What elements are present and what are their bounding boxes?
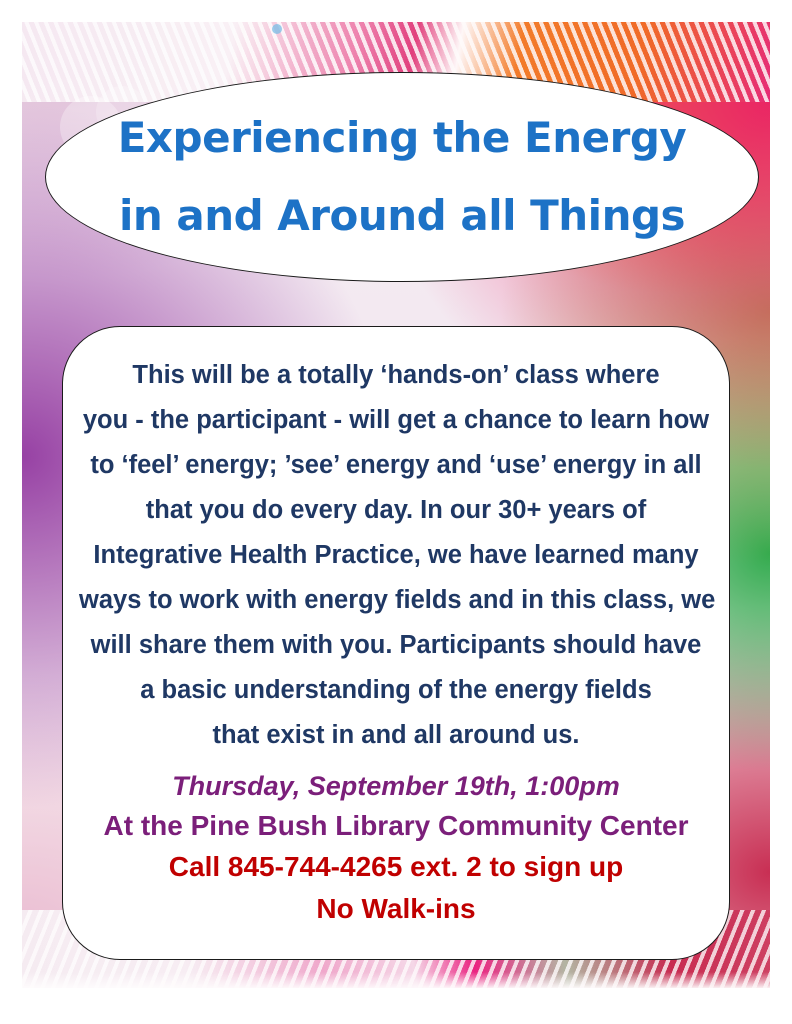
page-title-line-1: Experiencing the Energy [118, 116, 687, 160]
content-panel: This will be a totally ‘hands-on’ class … [62, 326, 730, 960]
bokeh-dot-icon [272, 24, 282, 34]
event-date-time: Thursday, September 19th, 1:00pm [172, 766, 620, 806]
signup-phone-line: Call 845-744-4265 ext. 2 to sign up [169, 846, 623, 888]
event-location: At the Pine Bush Library Community Cente… [104, 806, 689, 846]
no-walkins-notice: No Walk-ins [316, 888, 475, 930]
title-ellipse-banner: Experiencing the Energy in and Around al… [45, 72, 759, 282]
description-line: a basic understanding of the energy fiel… [79, 668, 713, 713]
flyer-poster: Experiencing the Energy in and Around al… [0, 0, 792, 1024]
description-line: ways to work with energy fields and in t… [79, 578, 713, 623]
description-line: that you do every day. In our 30+ years … [79, 488, 713, 533]
description-paragraph: This will be a totally ‘hands-on’ class … [79, 353, 713, 758]
description-line: that exist in and all around us. [79, 713, 713, 758]
description-line: will share them with you. Participants s… [79, 623, 713, 668]
description-line: Integrative Health Practice, we have lea… [79, 533, 713, 578]
description-line: to ‘feel’ energy; ’see’ energy and ‘use’… [79, 443, 713, 488]
page-title-line-2: in and Around all Things [119, 194, 685, 238]
description-line: This will be a totally ‘hands-on’ class … [79, 353, 713, 398]
description-line: you - the participant - will get a chanc… [79, 398, 713, 443]
